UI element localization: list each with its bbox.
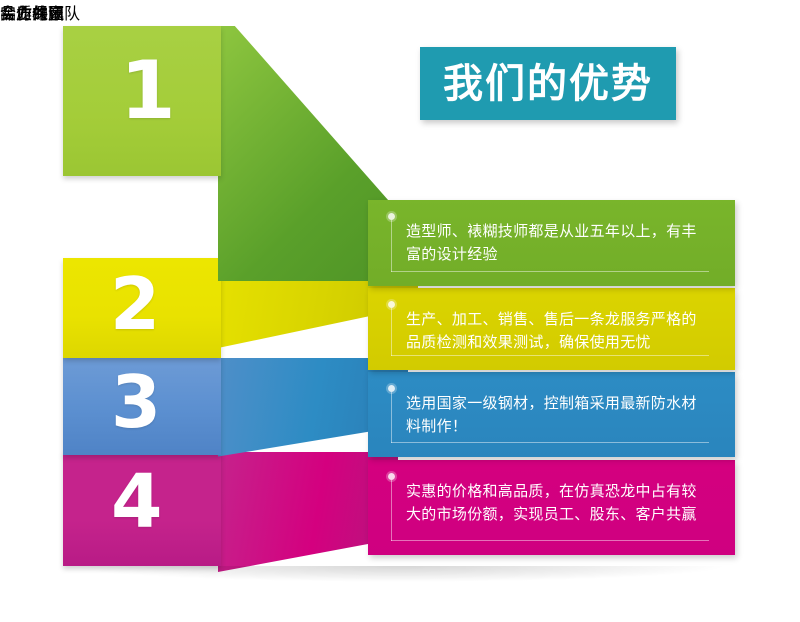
panel-rule-vertical-4 [391,480,392,541]
ribbon-number-4: 4 [111,465,163,539]
bullet-dot-1 [388,213,395,220]
description-panel-1: 造型师、裱糊技师都是从业五年以上，有丰富的设计经验 [368,200,735,286]
panel-rule-horizontal-4 [391,540,709,541]
bullet-dot-2 [388,301,395,308]
description-panel-3: 选用国家一级钢材，控制箱采用最新防水材料制作！ [368,372,735,457]
title-banner: 我们的优势 [420,47,676,120]
ribbon-face-3: 3 [63,358,221,455]
ribbon-face-1: 1 [63,26,221,176]
infographic-canvas: 我们的优势 4 合作共赢 实惠的价格和高品质，在仿真恐龙中占有较大的市场份额，实… [0,0,800,622]
ribbon-number-3: 3 [111,366,161,438]
ribbon-number-1: 1 [120,51,176,131]
ribbon-caption-1: 专业的团队 [0,4,80,23]
bullet-dot-4 [388,473,395,480]
ground-shadow [70,566,730,582]
description-text-3: 选用国家一级钢材，控制箱采用最新防水材料制作！ [406,392,709,439]
panel-rule-vertical-2 [391,308,392,356]
panel-rule-horizontal-3 [391,442,709,443]
panel-rule-vertical-3 [391,392,392,443]
description-text-1: 造型师、裱糊技师都是从业五年以上，有丰富的设计经验 [406,220,709,267]
panel-rule-vertical-1 [391,220,392,272]
panel-rule-horizontal-2 [391,355,709,356]
bullet-dot-3 [388,385,395,392]
ribbon-face-2: 2 [63,258,221,358]
description-text-4: 实惠的价格和高品质，在仿真恐龙中占有较大的市场份额，实现员工、股东、客户共赢 [406,480,709,527]
page-title: 我们的优势 [443,64,653,104]
ribbon-item-1: 1 专业的团队 [0,0,80,24]
panel-rule-horizontal-1 [391,271,709,272]
ribbon-number-2: 2 [110,268,160,340]
ribbon-face-4: 4 [63,452,221,566]
description-panel-2: 生产、加工、销售、售后一条龙服务严格的品质检测和效果测试，确保使用无忧 [368,288,735,370]
description-text-2: 生产、加工、销售、售后一条龙服务严格的品质检测和效果测试，确保使用无忧 [406,308,709,355]
description-panel-4: 实惠的价格和高品质，在仿真恐龙中占有较大的市场份额，实现员工、股东、客户共赢 [368,460,735,555]
